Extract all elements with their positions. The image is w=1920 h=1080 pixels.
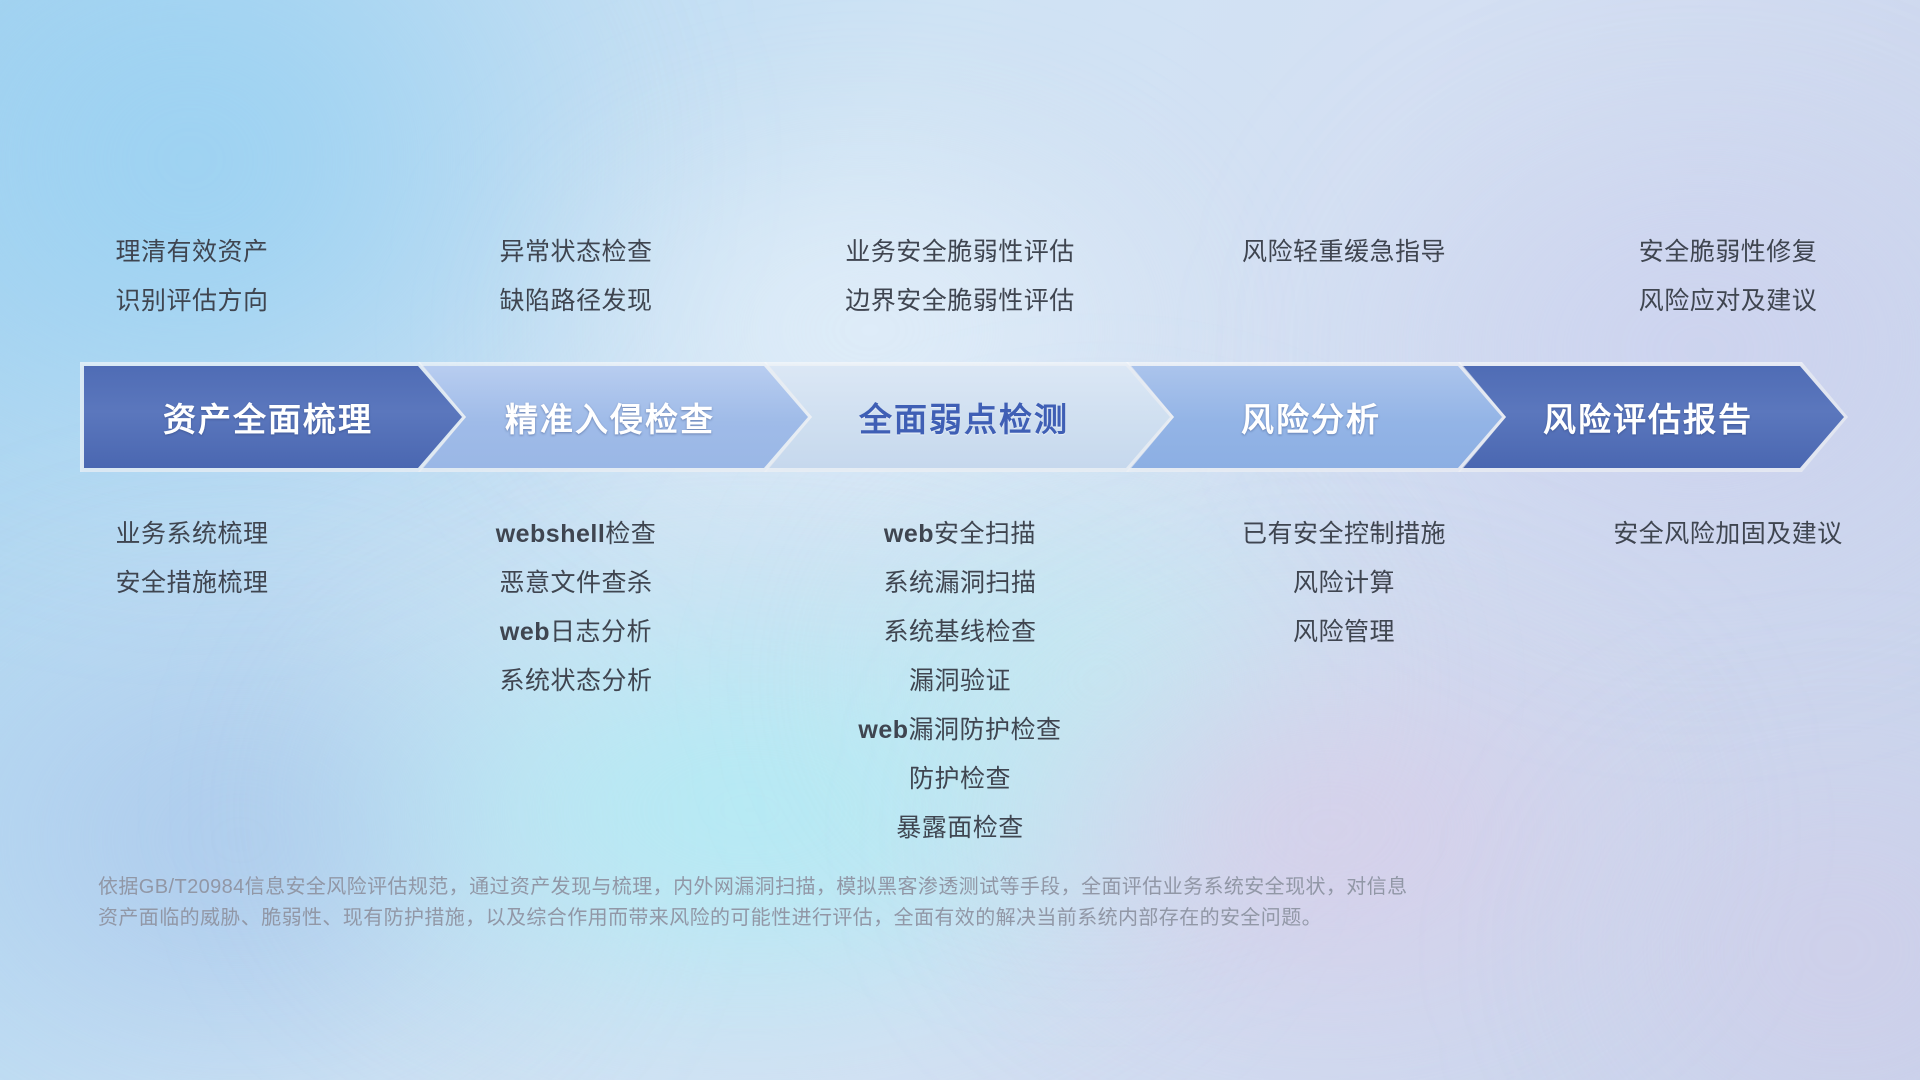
bottom-note-lead: web bbox=[858, 716, 908, 744]
top-note-column-risk-analysis: 风险轻重缓急指导 bbox=[1152, 228, 1536, 348]
process-stage-weakpoint[interactable]: 全面弱点检测 bbox=[768, 366, 1170, 468]
top-note-item: 风险应对及建议 bbox=[1639, 277, 1818, 326]
bottom-note-column-intrusion: webshell检查恶意文件查杀web日志分析系统状态分析 bbox=[384, 510, 768, 706]
bottom-note-item: 系统基线检查 bbox=[883, 608, 1036, 657]
bottom-note-item: 风险管理 bbox=[1293, 608, 1395, 657]
bottom-note-rest: 安全扫描 bbox=[934, 520, 1036, 548]
top-note-item: 风险轻重缓急指导 bbox=[1242, 228, 1446, 277]
bottom-note-item: web安全扫描 bbox=[884, 510, 1036, 559]
bottom-note-item: 风险计算 bbox=[1293, 559, 1395, 608]
bottom-note-lead: web bbox=[884, 520, 934, 548]
top-note-column-asset: 理清有效资产识别评估方向 bbox=[0, 228, 384, 348]
bottom-note-column-weakpoint: web安全扫描系统漏洞扫描系统基线检查漏洞验证web漏洞防护检查防护检查暴露面检… bbox=[768, 510, 1152, 853]
process-stage-label: 资产全面梳理 bbox=[84, 393, 462, 441]
infographic-canvas: 理清有效资产识别评估方向异常状态检查缺陷路径发现业务安全脆弱性评估边界安全脆弱性… bbox=[0, 0, 1920, 1080]
bottom-notes-row: 业务系统梳理安全措施梳理webshell检查恶意文件查杀web日志分析系统状态分… bbox=[0, 510, 1920, 853]
bottom-note-item: 安全风险加固及建议 bbox=[1613, 510, 1843, 559]
process-chevron-band: 资产全面梳理精准入侵检查全面弱点检测风险分析风险评估报告 bbox=[84, 366, 1844, 468]
top-note-item: 识别评估方向 bbox=[115, 277, 268, 326]
bottom-note-rest: 检查 bbox=[605, 520, 656, 548]
bottom-note-item: 安全措施梳理 bbox=[115, 559, 268, 608]
top-notes-row: 理清有效资产识别评估方向异常状态检查缺陷路径发现业务安全脆弱性评估边界安全脆弱性… bbox=[0, 228, 1920, 348]
top-note-item: 业务安全脆弱性评估 bbox=[845, 228, 1075, 277]
top-note-item: 缺陷路径发现 bbox=[499, 277, 652, 326]
bottom-note-item: 已有安全控制措施 bbox=[1242, 510, 1446, 559]
bottom-note-column-risk-analysis: 已有安全控制措施风险计算风险管理 bbox=[1152, 510, 1536, 657]
process-stage-risk-analysis[interactable]: 风险分析 bbox=[1130, 366, 1502, 468]
top-note-item: 理清有效资产 bbox=[115, 228, 268, 277]
top-note-item: 异常状态检查 bbox=[499, 228, 652, 277]
bottom-note-item: 恶意文件查杀 bbox=[499, 559, 652, 608]
bottom-note-item: web漏洞防护检查 bbox=[858, 706, 1061, 755]
bottom-note-lead: webshell bbox=[496, 520, 606, 548]
footer-description: 依据GB/T20984信息安全风险评估规范，通过资产发现与梳理，内外网漏洞扫描，… bbox=[98, 872, 1598, 934]
bottom-note-item: webshell检查 bbox=[496, 510, 657, 559]
process-stage-asset[interactable]: 资产全面梳理 bbox=[84, 366, 462, 468]
process-stage-label: 风险评估报告 bbox=[1462, 393, 1844, 441]
bottom-note-lead: web bbox=[500, 618, 550, 646]
footer-line-2: 资产面临的威胁、脆弱性、现有防护措施，以及综合作用而带来风险的可能性进行评估，全… bbox=[98, 903, 1598, 934]
process-stage-report[interactable]: 风险评估报告 bbox=[1462, 366, 1844, 468]
bottom-note-column-asset: 业务系统梳理安全措施梳理 bbox=[0, 510, 384, 608]
footer-line-1: 依据GB/T20984信息安全风险评估规范，通过资产发现与梳理，内外网漏洞扫描，… bbox=[98, 872, 1598, 903]
process-stage-intrusion[interactable]: 精准入侵检查 bbox=[422, 366, 808, 468]
process-stage-label: 全面弱点检测 bbox=[768, 393, 1170, 441]
bottom-note-item: 业务系统梳理 bbox=[115, 510, 268, 559]
bottom-note-item: 系统漏洞扫描 bbox=[883, 559, 1036, 608]
process-stage-label: 风险分析 bbox=[1130, 393, 1502, 441]
bottom-note-item: 漏洞验证 bbox=[909, 657, 1011, 706]
process-stage-label: 精准入侵检查 bbox=[422, 393, 808, 441]
top-note-item: 安全脆弱性修复 bbox=[1639, 228, 1818, 277]
bottom-note-column-report: 安全风险加固及建议 bbox=[1536, 510, 1920, 559]
top-note-column-intrusion: 异常状态检查缺陷路径发现 bbox=[384, 228, 768, 348]
bottom-note-rest: 日志分析 bbox=[550, 618, 652, 646]
bottom-note-rest: 漏洞防护检查 bbox=[909, 716, 1062, 744]
bottom-note-item: 防护检查 bbox=[909, 755, 1011, 804]
bottom-note-item: web日志分析 bbox=[500, 608, 652, 657]
top-note-column-report: 安全脆弱性修复风险应对及建议 bbox=[1536, 228, 1920, 348]
top-note-item: 边界安全脆弱性评估 bbox=[845, 277, 1075, 326]
bottom-note-item: 系统状态分析 bbox=[499, 657, 652, 706]
top-note-column-weakpoint: 业务安全脆弱性评估边界安全脆弱性评估 bbox=[768, 228, 1152, 348]
bottom-note-item: 暴露面检查 bbox=[896, 804, 1024, 853]
